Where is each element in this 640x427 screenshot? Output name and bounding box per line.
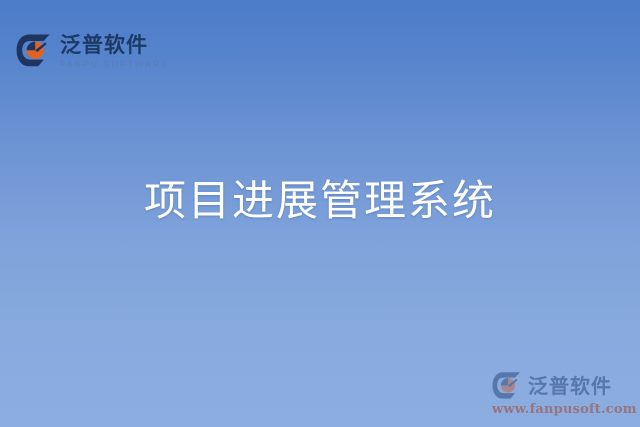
watermark-url: www.fanpusoft.com	[492, 403, 632, 417]
brand-name-en: FANPU SOFTWARE	[60, 60, 169, 69]
watermark-logo-row: 泛普软件	[492, 371, 632, 401]
brand-name-cn: 泛普软件	[60, 34, 169, 56]
watermark: 泛普软件 www.fanpusoft.com	[492, 371, 632, 417]
brand-wordmark: 泛普软件 FANPU SOFTWARE	[60, 34, 169, 69]
page-title: 项目进展管理系统	[0, 176, 640, 226]
fanpu-hexagon-logo-icon	[16, 33, 52, 69]
fanpu-hexagon-logo-icon	[492, 371, 522, 401]
brand-logo: 泛普软件 FANPU SOFTWARE	[16, 33, 169, 69]
watermark-name-cn: 泛普软件	[528, 376, 612, 396]
splash-screen: 泛普软件 FANPU SOFTWARE 项目进展管理系统 泛普软件 www.fa…	[0, 0, 640, 427]
